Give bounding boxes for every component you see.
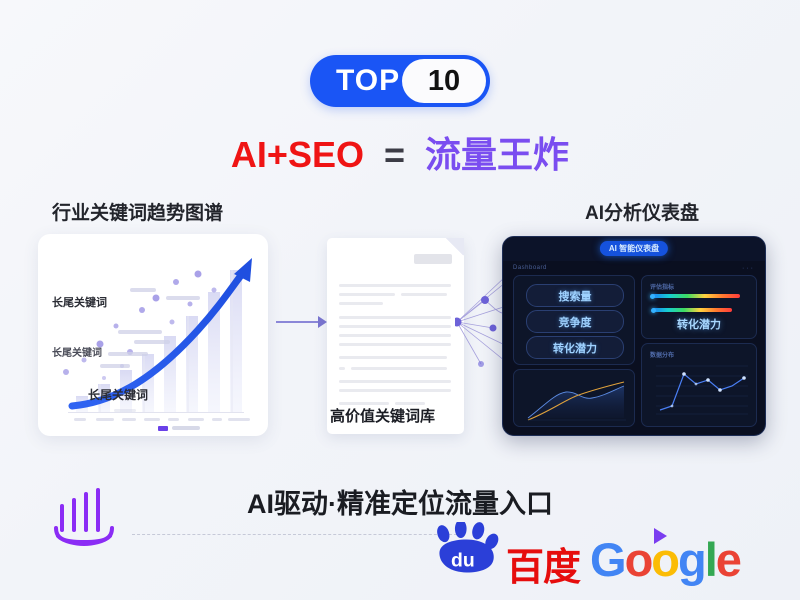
legend-swatch [158,426,168,431]
dashboard-title-badge: AI 智能仪表盘 [600,241,668,256]
arrow-head-icon [318,316,327,328]
gauge-marker-1 [650,294,655,299]
metric-pill-conversion[interactable]: 转化潜力 [526,336,624,359]
keyword-label-3: 长尾关键词 [88,386,148,403]
title-part-ai-seo: AI+SEO [231,134,364,175]
top-rank-badge: TOP 10 [310,55,490,107]
doc-caption: 高价值关键词库 [330,405,435,426]
metric-pill-search-volume[interactable]: 搜索量 [526,284,624,307]
metrics-panel: 搜索量 竞争度 转化潜力 [513,275,635,365]
arrow-right-icon [276,321,320,323]
top-badge-label: TOP [336,64,400,98]
axis-tick [144,418,160,421]
bottom-banner-text: AI驱动·精准定位流量入口 [0,482,800,521]
dashboard-menu-icon[interactable]: ··· [742,265,755,272]
page-title: AI+SEO = 流量王炸 [0,126,800,178]
divider [132,534,462,535]
axis-tick [168,418,179,421]
doc-header-block [414,254,452,264]
top-badge-number: 10 [402,59,486,103]
gauge-panel-label: 评估指标 [650,282,674,291]
gauge-marker-2 [651,308,656,313]
axis-tick [188,418,204,421]
trend-area-chart [514,370,634,426]
distribution-line-chart [642,344,756,426]
axis-caption [114,409,136,412]
legend-label [172,426,200,430]
gauge-bar-1 [652,294,740,298]
slide-canvas: TOP 10 AI+SEO = 流量王炸 行业关键词趋势图谱 AI分析仪表盘 [0,0,800,600]
distribution-chart-panel: 数据分布 [641,343,757,427]
metric-pill-competition[interactable]: 竞争度 [526,310,624,333]
axis-tick [212,418,222,421]
axis-tick [74,418,86,421]
google-letter-o1: o [625,533,652,586]
ai-dashboard: AI 智能仪表盘 Dashboard ··· 搜索量 竞争度 转化潜力 评估指标… [502,236,766,436]
trend-area-panel [513,369,635,427]
baidu-wordmark: 百度 [506,536,580,591]
gauge-panel: 评估指标 转化潜力 [641,275,757,339]
axis-tick [96,418,114,421]
axis-tick [122,418,136,421]
axis-tick [228,418,250,421]
google-letter-l: l [705,533,716,586]
google-letter-g2: g [678,533,705,586]
trend-chart-card: 长尾关键词 长尾关键词 长尾关键词 [38,234,268,436]
gauge-bar-2 [652,308,732,312]
search-engine-logos: du 百度 Google [420,522,750,584]
google-letter-g1: G [590,533,625,586]
left-section-caption: 行业关键词趋势图谱 [52,198,223,225]
google-letter-e: e [716,533,740,586]
gauge-overlay-text: 转化潜力 [642,316,756,332]
google-wordmark: Google [590,532,740,587]
title-part-traffic: 流量王炸 [425,134,569,175]
dashboard-subtitle: Dashboard [513,265,547,271]
title-equals: = [384,134,405,175]
google-letter-o2: o [651,533,678,586]
baidu-du-text: du [451,550,475,572]
keyword-label-1: 长尾关键词 [52,294,107,310]
trend-chart-svg [38,234,268,436]
bar-chart-icon [48,486,120,548]
right-section-caption: AI分析仪表盘 [585,198,699,225]
keyword-label-2: 长尾关键词 [52,344,102,359]
